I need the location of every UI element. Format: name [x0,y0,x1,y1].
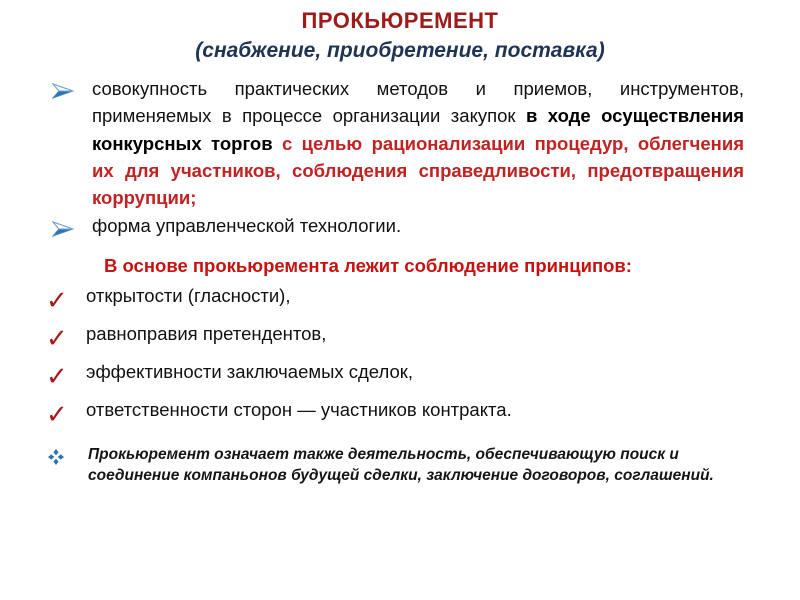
page-subtitle: (снабжение, приобретение, поставка) [0,38,800,63]
list-item-form: форма управленческой технологии. [40,213,760,240]
arrow-bullet-icon [40,75,92,99]
footnote-tail: соединение компаньонов будущей сделки, з… [88,465,736,486]
definition-paragraph: совокупность практических методов и прие… [92,75,760,211]
principle-label: открытости (гласности), [86,284,760,307]
list-item: ✓ равноправия претендентов, [40,322,760,352]
page-title: ПРОКЬЮРЕМЕНТ [0,8,800,34]
list-item: ✓ ответственности сторон — участников ко… [40,398,760,428]
slide-canvas: ПРОКЬЮРЕМЕНТ (снабжение, приобретение, п… [0,0,800,600]
footnote-paragraph: Прокьюремент означает также деятельность… [88,444,736,487]
principle-label: ответственности сторон — участников конт… [86,398,760,421]
slide-title-block: ПРОКЬЮРЕМЕНТ (снабжение, приобретение, п… [0,0,800,63]
arrow-bullet-icon [40,213,92,237]
slide-body: совокупность практических методов и прие… [0,63,800,487]
check-mark-icon: ✓ [40,284,86,314]
list-item: ✓ открытости (гласности), [40,284,760,314]
footnote-lead: Прокьюремент означает также деятельность… [88,446,679,463]
check-mark-icon: ✓ [40,398,86,428]
form-paragraph: форма управленческой технологии. [92,213,760,240]
list-item: ✓ эффективности заключаемых сделок, [40,360,760,390]
check-mark-icon: ✓ [40,360,86,390]
footnote-block: Прокьюремент означает также деятельность… [40,444,760,487]
principles-list: ✓ открытости (гласности), ✓ равноправия … [40,284,760,428]
principles-heading: В основе прокьюремента лежит соблюдение … [40,254,760,278]
check-mark-icon: ✓ [40,322,86,352]
principle-label: равноправия претендентов, [86,322,760,345]
principle-label: эффективности заключаемых сделок, [86,360,760,383]
list-item-definition: совокупность практических методов и прие… [40,75,760,211]
diamond-cluster-icon [40,444,88,465]
